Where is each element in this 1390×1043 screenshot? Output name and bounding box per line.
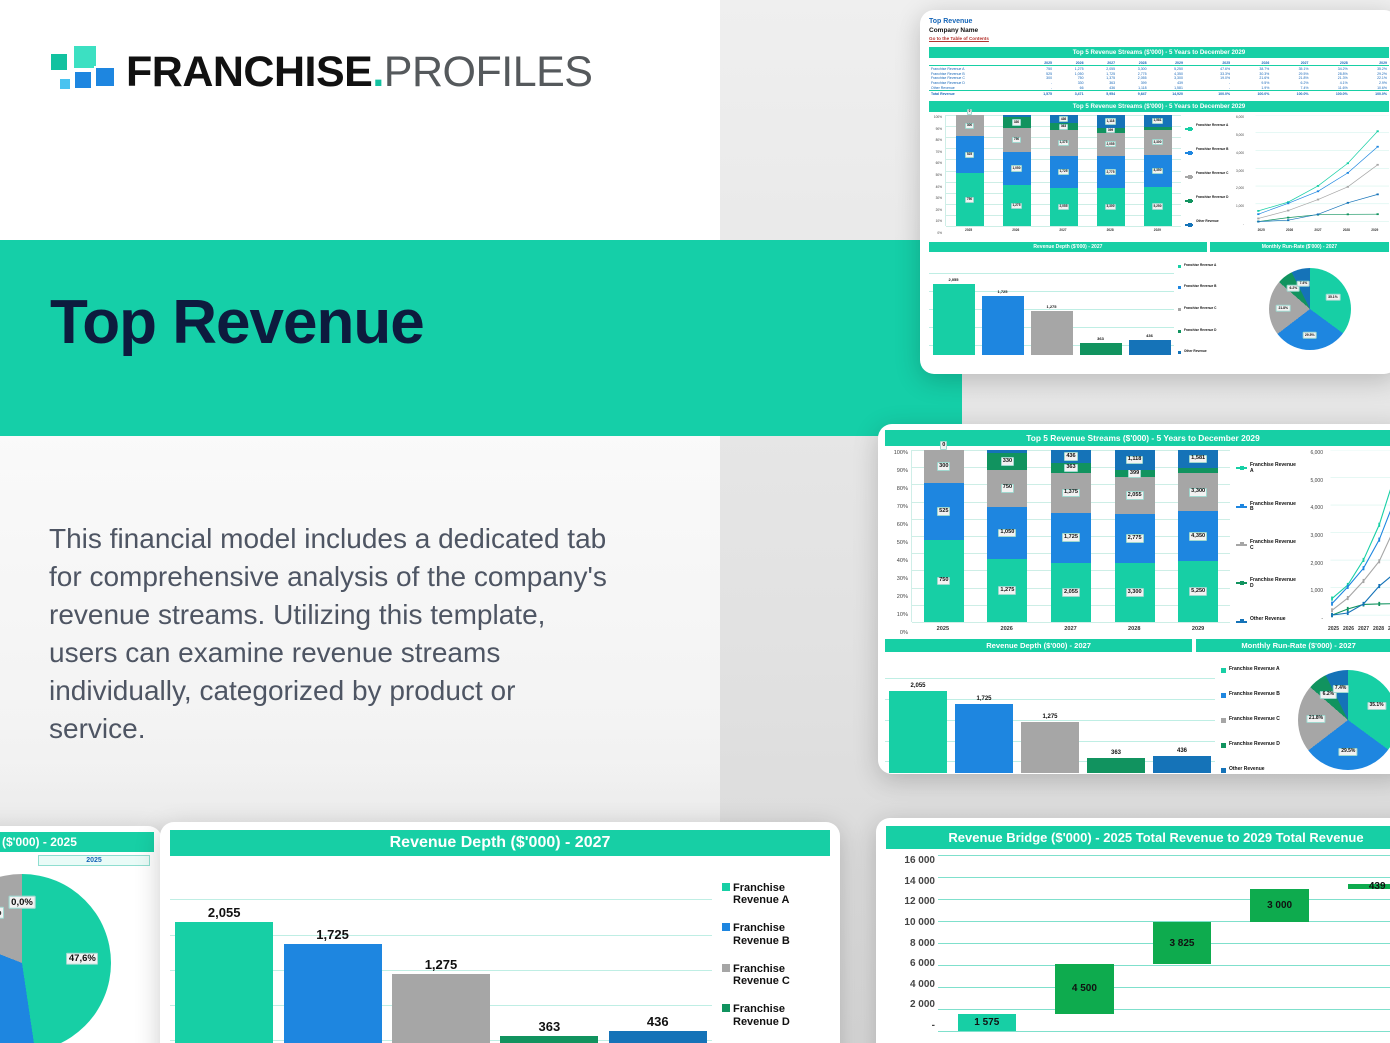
bar-value-label: 2,055 [910, 683, 925, 689]
legend-label: Other Revenue [1229, 767, 1265, 773]
x-tick: 2027 [1050, 622, 1090, 636]
bar[interactable]: 1,725 [955, 704, 1013, 773]
legend-swatch [1236, 467, 1247, 469]
legend-item: Franchise Revenue A [1221, 667, 1289, 673]
revenue-depth-legend-big: Franchise Revenue AFranchise Revenue BFr… [722, 864, 830, 1043]
y-tick: 5,000 [1236, 133, 1244, 137]
stack-segment: 1,375 [1050, 130, 1078, 156]
y-tick: 10 000 [904, 917, 935, 928]
bar-value-label: 1,275 [425, 957, 458, 972]
stack-segment: 1,118 [1097, 115, 1125, 128]
legend-swatch [1185, 152, 1193, 154]
stack-column[interactable]: 2,0551,7251,375363436 [1050, 115, 1078, 226]
bridge-value-label: 3 000 [1267, 900, 1292, 911]
y-tick: 4,000 [1310, 505, 1323, 511]
year-tab-2025[interactable]: 2025 [38, 855, 150, 866]
legend-item: Franchise Revenue D [1178, 329, 1226, 333]
stack-value-label: 0 [967, 109, 973, 115]
stack-value-label: 1,275 [998, 586, 1016, 595]
bar[interactable]: 1,725 [284, 944, 382, 1043]
bridge-value-label: 1 575 [974, 1017, 999, 1028]
stack-segment: 1,375 [1051, 473, 1091, 513]
y-tick: 14 000 [904, 876, 935, 887]
stack-segment: 4,350 [1144, 155, 1172, 187]
pie-slice-label: 35.1% [1367, 702, 1386, 710]
stack-segment [1178, 468, 1218, 473]
pie-slice-label: 21.8% [1276, 305, 1291, 311]
legend-item: Franchise Revenue C [1178, 307, 1226, 311]
y-tick: 50% [897, 540, 908, 546]
logo-mark-icon [46, 44, 108, 100]
legend-swatch [1185, 224, 1193, 226]
stack-value-label: 2,055 [1058, 204, 1070, 210]
legend-label: Franchise Revenue D [1184, 329, 1216, 333]
y-tick: 50% [936, 173, 942, 177]
y-tick: 60% [936, 161, 942, 165]
pie-slice-label: 21.8% [1306, 715, 1325, 723]
legend-label: Franchise Revenue A [1196, 124, 1228, 128]
legend-item: Other Revenue [1178, 350, 1226, 354]
bar-value-label: 436 [647, 1014, 669, 1029]
stack-value-label: 2,775 [1126, 534, 1144, 543]
legend-item: Franchise Revenue D [1221, 742, 1289, 748]
stack-segment [1144, 127, 1172, 130]
stack-column[interactable]: 7505253000 [956, 115, 984, 226]
bar[interactable]: 363 [1080, 343, 1122, 355]
stack-column[interactable]: 2,0551,7251,375363436 [1051, 450, 1091, 622]
stack-value-label: 1,581 [1189, 455, 1207, 464]
y-tick: 3,000 [1310, 533, 1323, 539]
stack-segment: 2,775 [1097, 156, 1125, 188]
stack-value-label: 1,725 [1062, 533, 1080, 542]
stack-segment: 436 [1051, 450, 1091, 463]
legend-swatch [1185, 176, 1193, 178]
stack-value-label: 436 [1064, 452, 1077, 461]
bar-value-label: 363 [1111, 750, 1121, 756]
y-tick: 0% [937, 231, 942, 235]
legend-item: Franchise Revenue A [722, 882, 830, 907]
stack-segment: 3,300 [1097, 188, 1125, 226]
legend-label: Franchise Revenue A [1229, 667, 1280, 673]
legend-label: Franchise Revenue A [1184, 264, 1216, 268]
stack-segment: 2,055 [1115, 477, 1155, 514]
stack-segment: 363 [1050, 123, 1078, 130]
stack-value-label: 399 [1128, 469, 1141, 478]
brand-name-bold: FRANCHISE [126, 48, 372, 96]
x-tick: 2028 [1114, 622, 1154, 636]
stack-segment: 399 [1097, 128, 1125, 133]
legend-item: Franchise Revenue A [1178, 264, 1226, 268]
y-tick: 5,000 [1310, 478, 1323, 484]
y-tick: 20% [936, 208, 942, 212]
legend-item: Other Revenue [1221, 767, 1289, 773]
stack-segment: 330 [1003, 117, 1031, 128]
stack-value-label: 3,300 [1126, 588, 1144, 597]
stack-segment: 330 [987, 453, 1027, 469]
bridge-plot[interactable]: 1 5754 5003 8253 000439 [938, 855, 1390, 1031]
table-total-row: Total Revenue1,5753,4715,9549,64714,9201… [929, 91, 1389, 96]
legend-swatch [1221, 668, 1226, 673]
revenue-bridge-title: Revenue Bridge ($'000) - 2025 Total Reve… [886, 826, 1390, 849]
stack-column[interactable]: 1,2751,050750330 [1003, 115, 1031, 226]
stack-segment: 2,775 [1115, 514, 1155, 563]
x-tick: 2028 [1343, 226, 1350, 235]
stack-value-label: 4,350 [1189, 532, 1207, 541]
legend-item: Franchise Revenue D [1185, 196, 1229, 202]
stack-segment: 399 [1115, 470, 1155, 477]
y-tick: 2,000 [1236, 186, 1244, 190]
y-tick: 0% [900, 630, 908, 636]
legend-swatch [1236, 544, 1247, 546]
legend-label: Franchise Revenue C [1250, 540, 1298, 552]
bar[interactable]: 2,055 [175, 922, 273, 1043]
legend-swatch [1221, 718, 1226, 723]
stack-value-label: 1,050 [998, 529, 1016, 538]
bridge-bar[interactable]: 1 575 [958, 1014, 1017, 1031]
legend-label: Franchise Revenue B [1250, 502, 1298, 514]
y-tick: 10% [936, 219, 942, 223]
bar-value-label: 436 [1146, 333, 1153, 338]
stack-column[interactable]: 3,3002,7752,0553991,118 [1097, 115, 1125, 226]
legend-label: Franchise Revenue D [1196, 196, 1228, 200]
bar-value-label: 436 [1177, 748, 1187, 754]
y-tick: 100% [934, 115, 942, 119]
pie-slice-label: 35.1% [1326, 294, 1341, 300]
bar-value-label: 1,275 [1046, 304, 1056, 309]
y-tick: - [932, 1020, 935, 1031]
x-tick: 2027 [1049, 226, 1077, 235]
bar[interactable]: 1,275 [1031, 311, 1073, 355]
legend-label: Franchise Revenue B [733, 922, 830, 947]
bar[interactable]: 2,055 [933, 284, 975, 355]
stack-value-label: 1,725 [1058, 169, 1070, 175]
revenue-depth-legend: Franchise Revenue AFranchise Revenue BFr… [1178, 255, 1226, 363]
x-tick: 2029 [1371, 226, 1378, 235]
top5-detail-card[interactable]: Top 5 Revenue Streams ($'000) - 5 Years … [878, 424, 1390, 774]
legend-swatch [1178, 308, 1181, 311]
stack-segment: 300 [924, 450, 964, 483]
bridge-bar[interactable]: 3 825 [1153, 922, 1212, 964]
y-tick: 8 000 [910, 938, 935, 949]
pie-slice-label: 29.5% [1302, 332, 1317, 338]
stack-value-label: 363 [1059, 124, 1068, 130]
stack-value-label: 330 [1001, 457, 1014, 466]
revenue-depth-chart-large[interactable]: 2,0551,7251,275363436 [885, 657, 1215, 773]
bar[interactable]: 363 [1087, 758, 1145, 773]
stack-segment: 750 [956, 173, 984, 226]
legend-label: Other Revenue [1184, 350, 1207, 354]
stack-value-label: 750 [965, 197, 974, 203]
legend-swatch [1178, 351, 1181, 354]
y-tick: 2,000 [1310, 561, 1323, 567]
y-tick: 80% [936, 138, 942, 142]
stack-segment: 750 [1003, 128, 1031, 152]
stack-segment: 1,275 [1003, 185, 1031, 226]
stack-value-label: 525 [937, 507, 950, 516]
stack-segment: 300 [956, 115, 984, 136]
runrate-title-2: Monthly Run-Rate ($'000) - 2027 [1196, 639, 1390, 652]
legend-label: Franchise Revenue B [1229, 692, 1280, 698]
revenue-depth-chart[interactable]: 2,0551,7251,275363436 [929, 255, 1174, 355]
sheet-title: Top Revenue [929, 18, 1389, 27]
y-tick: 10% [897, 612, 908, 618]
legend-label: Franchise Revenue D [1229, 742, 1280, 748]
depth-title-1: Revenue Depth ($'000) - 2027 [929, 242, 1207, 252]
stack-value-label: 5,250 [1189, 587, 1207, 596]
x-tick: 2025 [1258, 226, 1265, 235]
runrate-2025-title: Monthly Run-Rate ($'000) - 2025 [0, 832, 154, 852]
bar[interactable]: 436 [609, 1031, 707, 1043]
stack-value-label: 363 [1064, 464, 1077, 473]
bar-value-label: 1,275 [1042, 714, 1057, 720]
stack-value-label: 1,050 [1011, 165, 1023, 171]
bridge-bar[interactable]: 3 000 [1250, 889, 1309, 922]
stack-segment: 525 [924, 483, 964, 540]
y-tick: 90% [897, 468, 908, 474]
bridge-value-label: 3 825 [1169, 938, 1194, 949]
legend-item: Franchise Revenue B [1221, 692, 1289, 698]
runrate-2025-card[interactable]: Monthly Run-Rate ($'000) - 2025 2025 47,… [0, 826, 162, 1043]
x-tick: 2026 [1343, 622, 1354, 636]
brand-logo: FRANCHISE.PROFILES [46, 44, 592, 100]
legend-item: Franchise Revenue B [1185, 148, 1229, 154]
bar[interactable]: 1,275 [392, 974, 490, 1043]
x-tick: 2028 [1373, 622, 1384, 636]
legend-swatch [722, 883, 730, 891]
legend-swatch [1221, 693, 1226, 698]
legend-label: Franchise Revenue A [733, 882, 830, 907]
y-tick: 6,000 [1310, 450, 1323, 456]
stack-value-label: 525 [965, 152, 974, 158]
legend-swatch [1178, 286, 1181, 289]
brand-wordmark: FRANCHISE.PROFILES [126, 51, 592, 94]
monthly-runrate-chart[interactable]: 6,0005,0004,0003,0002,0001,000-202520262… [1233, 115, 1389, 235]
legend-swatch [1178, 265, 1181, 268]
stack-segment: 525 [956, 136, 984, 173]
stack-segment: 3,300 [1144, 130, 1172, 155]
pie-slice-label: 7.4% [1332, 685, 1348, 693]
top5-chart-title: Top 5 Revenue Streams ($'000) - 5 Years … [929, 101, 1389, 112]
revenue-table: 2025202620272028202920252026202720282029… [929, 61, 1389, 96]
stack-segment: 1,275 [987, 559, 1027, 622]
runrate-title-1: Monthly Run-Rate ($'000) - 2027 [1210, 242, 1389, 252]
legend-label: Franchise Revenue C [1196, 172, 1228, 176]
stack-value-label: 300 [965, 123, 974, 129]
x-tick: 2026 [1286, 226, 1293, 235]
bar-value-label: 1,725 [976, 696, 991, 702]
stack-column[interactable]: 1,2751,050750330 [987, 450, 1027, 622]
bar-value-label: 2,055 [208, 905, 241, 920]
y-tick: 70% [936, 150, 942, 154]
y-tick: 1,000 [1310, 588, 1323, 594]
monthly-runrate-chart-large[interactable]: 6,0005,0004,0003,0002,0001,000-202520262… [1304, 450, 1390, 636]
stack-value-label: 750 [1001, 484, 1014, 493]
y-tick: 90% [936, 127, 942, 131]
legend-swatch [722, 964, 730, 972]
stack-column[interactable]: 5,2504,3503,3001,581 [1144, 115, 1172, 226]
bar[interactable]: 436 [1153, 756, 1211, 773]
legend-swatch [1185, 200, 1193, 202]
x-tick: 2025 [955, 226, 983, 235]
brand-dot: . [372, 48, 383, 96]
legend-swatch [1221, 768, 1226, 773]
legend-item: Franchise Revenue A [1236, 463, 1298, 475]
stack-value-label: 1,275 [1011, 203, 1023, 209]
bridge-y-axis: 16 00014 00012 00010 0008 0006 0004 0002… [886, 855, 938, 1031]
stack-value-label: 436 [1059, 116, 1068, 122]
blue-square-right-icon [94, 66, 116, 88]
stack-segment: 2,055 [1050, 188, 1078, 226]
top5-chart-title-large: Top 5 Revenue Streams ($'000) - 5 Years … [885, 430, 1390, 446]
legend-label: Other Revenue [1196, 220, 1219, 224]
y-tick: 100% [894, 450, 908, 456]
legend-label: Franchise Revenue C [1184, 307, 1216, 311]
stack-value-label: 1,118 [1126, 456, 1144, 465]
legend-swatch [722, 1004, 730, 1012]
stack-value-label: 330 [1012, 119, 1021, 125]
stack-column[interactable]: 7505253000 [924, 450, 964, 622]
y-tick: 4 000 [910, 979, 935, 990]
x-tick: 2027 [1314, 226, 1321, 235]
bar[interactable]: 1,275 [1021, 722, 1079, 773]
slide-canvas: FRANCHISE.PROFILES Top Revenue This fina… [0, 0, 1390, 1043]
stack-segment: 436 [1050, 115, 1078, 123]
legend-swatch [1236, 506, 1247, 508]
pie-slice-label: 0,0% [9, 896, 36, 909]
stack-value-label: 1,581 [1152, 118, 1164, 124]
y-tick: 4,000 [1236, 151, 1244, 155]
brand-name-light: PROFILES [384, 48, 593, 96]
revenue-depth-legend-large: Franchise Revenue AFranchise Revenue BFr… [1221, 657, 1289, 774]
stack-value-label: 750 [937, 577, 950, 586]
stack-value-label: 300 [937, 462, 950, 471]
legend-swatch [1236, 621, 1247, 623]
stack-segment: 750 [924, 540, 964, 622]
revenue-depth-bars[interactable]: 2,0551,7251,275363436 [170, 864, 712, 1043]
stack-value-label: 750 [1012, 137, 1021, 143]
stack-value-label: 2,055 [1062, 588, 1080, 597]
legend-item: Franchise Revenue A [1185, 124, 1229, 130]
hero-banner: Top Revenue [0, 240, 962, 436]
bar-value-label: 363 [539, 1019, 561, 1034]
stack-value-label: 3,300 [1152, 139, 1164, 145]
legend-label: Franchise Revenue B [1196, 148, 1228, 152]
stack-segment: 1,725 [1050, 156, 1078, 188]
bridge-value-label: 439 [1369, 881, 1386, 892]
background-panel-top-left [0, 0, 720, 240]
stack-value-label: 5,250 [1152, 203, 1164, 209]
stack-value-label: 0 [940, 441, 947, 450]
y-tick: 30% [936, 196, 942, 200]
bar[interactable]: 1,725 [982, 296, 1024, 355]
revenue-mix-pie-large[interactable]: 35.1%29.5%21.8%6.2%7.4% [1298, 670, 1390, 770]
top5-stacked-chart-large[interactable]: 100%90%80%70%60%50%40%30%20%10%0%7505253… [885, 450, 1230, 636]
stack-segment: 4,350 [1178, 511, 1218, 561]
top5-legend: Franchise Revenue AFranchise Revenue BFr… [1185, 115, 1229, 235]
stack-value-label: 2,775 [1105, 169, 1117, 175]
stack-column[interactable]: 5,2504,3503,3001,581 [1178, 450, 1218, 622]
pie-slice-label: 19,0% [0, 907, 4, 920]
legend-label: Franchise Revenue A [1250, 463, 1298, 475]
legend-swatch [1221, 743, 1226, 748]
legend-item: Franchise Revenue B [1236, 502, 1298, 514]
bridge-bar[interactable]: 439 [1348, 884, 1390, 889]
hero-description: This financial model includes a dedicate… [49, 520, 619, 748]
stack-segment: 2,055 [1051, 563, 1091, 622]
y-tick: 3,000 [1236, 169, 1244, 173]
stack-segment: 1,725 [1051, 513, 1091, 563]
bar-value-label: 2,055 [948, 277, 958, 282]
legend-label: Franchise Revenue B [1184, 285, 1216, 289]
x-tick: 2028 [1096, 226, 1124, 235]
y-tick: 16 000 [904, 855, 935, 866]
legend-label: Franchise Revenue D [733, 1003, 830, 1028]
revenue-depth-title-big: Revenue Depth ($'000) - 2027 [170, 830, 830, 856]
x-tick: 2025 [1328, 622, 1339, 636]
stack-segment: 3,300 [1178, 473, 1218, 511]
y-tick: 6 000 [910, 958, 935, 969]
runrate-2025-pie[interactable]: 47,6%33,3%19,0%0,0%0,0% [0, 874, 111, 1043]
sheet-subtitle: Company Name [929, 27, 1389, 35]
legend-swatch [1236, 582, 1247, 584]
x-tick: 2026 [987, 622, 1027, 636]
bar-value-label: 1,725 [316, 927, 349, 942]
stack-segment: 750 [987, 470, 1027, 507]
legend-item: Franchise Revenue C [1185, 172, 1229, 178]
bar[interactable]: 2,055 [889, 691, 947, 773]
stack-value-label: 3,300 [1189, 488, 1207, 497]
revenue-mix-pie[interactable]: 35.1%29.5%21.8%6.2%7.4% [1269, 268, 1351, 350]
top5-stacked-chart[interactable]: 100%90%80%70%60%50%40%30%20%10%0%7505253… [929, 115, 1181, 235]
x-tick: 2026 [1002, 226, 1030, 235]
legend-item: Franchise Revenue D [722, 1003, 830, 1028]
top5-legend-large: Franchise Revenue AFranchise Revenue BFr… [1236, 450, 1298, 636]
bar[interactable]: 436 [1129, 340, 1171, 355]
y-tick: 2 000 [910, 999, 935, 1010]
y-tick: 20% [897, 594, 908, 600]
bar-value-label: 1,725 [997, 289, 1007, 294]
stack-value-label: 1,118 [1105, 118, 1117, 124]
y-tick: 40% [936, 185, 942, 189]
bridge-bar[interactable]: 4 500 [1055, 964, 1114, 1014]
revenue-depth-card[interactable]: Revenue Depth ($'000) - 2027 2,0551,7251… [160, 822, 840, 1043]
x-tick: 2029 [1143, 226, 1171, 235]
pie-slice-label: 47,6% [66, 952, 98, 965]
toc-link[interactable]: Go to the Table of Contents [929, 36, 1389, 42]
legend-swatch [1185, 128, 1193, 130]
pie-slice-label: 7.4% [1297, 280, 1310, 286]
y-tick: 30% [897, 576, 908, 582]
legend-item: Franchise Revenue C [722, 963, 830, 988]
stack-segment [987, 450, 1027, 453]
legend-item: Franchise Revenue D [1236, 578, 1298, 590]
stack-segment: 3,300 [1115, 563, 1155, 622]
stack-segment: 1,050 [987, 507, 1027, 559]
stack-segment: 1,050 [1003, 152, 1031, 186]
legend-label: Franchise Revenue C [1229, 717, 1280, 723]
page-title: Top Revenue [50, 292, 424, 354]
stack-segment: 5,250 [1178, 561, 1218, 622]
stack-column[interactable]: 3,3002,7752,0553991,118 [1115, 450, 1155, 622]
bar[interactable]: 363 [500, 1036, 598, 1043]
sheet-preview-card[interactable]: Top Revenue Company Name Go to the Table… [920, 10, 1390, 374]
revenue-bridge-card[interactable]: Revenue Bridge ($'000) - 2025 Total Reve… [876, 818, 1390, 1043]
stack-segment: 1,581 [1144, 115, 1172, 127]
stack-value-label: 3,300 [1105, 204, 1117, 210]
legend-label: Franchise Revenue C [733, 963, 830, 988]
x-tick: 2029 [1178, 622, 1218, 636]
sky-square-icon [58, 77, 72, 91]
